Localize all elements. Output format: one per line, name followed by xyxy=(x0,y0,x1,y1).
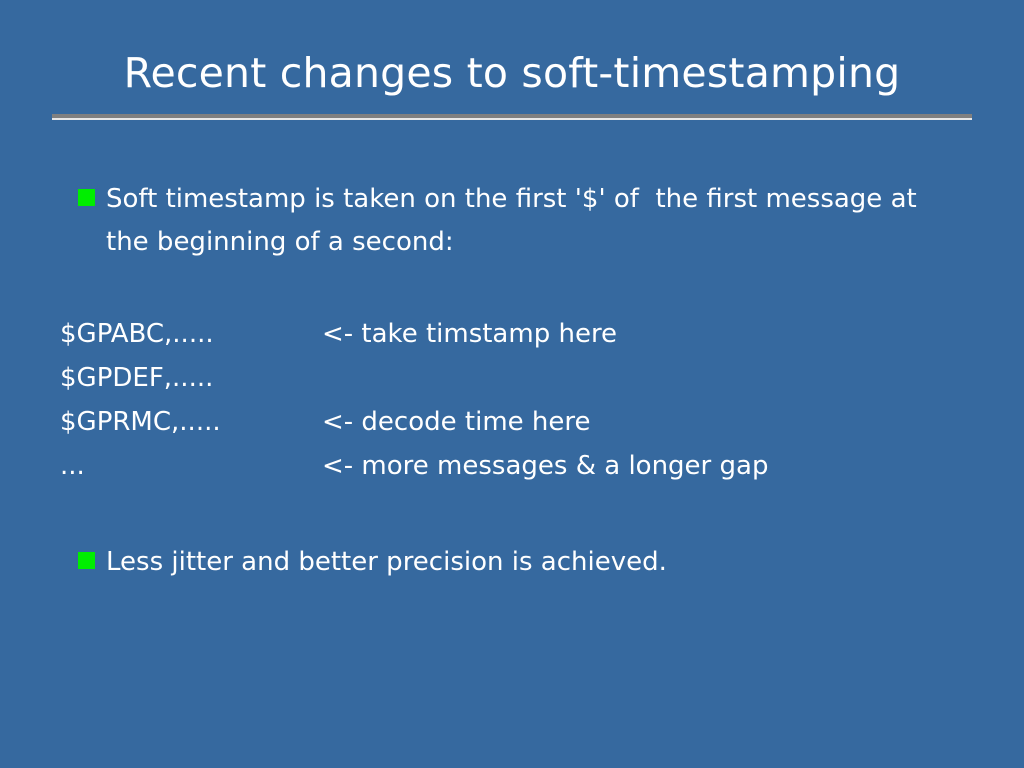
slide-body: Soft timestamp is taken on the first '$'… xyxy=(0,0,1024,768)
listing-message-2: $GPDEF,..... xyxy=(60,356,322,400)
listing-note-4: <- more messages & a longer gap xyxy=(322,444,960,488)
bullet-item-2-label: Less jitter and better precision is achi… xyxy=(106,541,667,584)
list-item: $GPABC,..... <- take timstamp here xyxy=(60,312,960,356)
listing-note-1: <- take timstamp here xyxy=(322,312,960,356)
list-item: ... <- more messages & a longer gap xyxy=(60,444,960,488)
bullet-item-2: Less jitter and better precision is achi… xyxy=(78,541,978,584)
presentation-slide: Recent changes to soft-timestamping Soft… xyxy=(0,0,1024,768)
list-item: $GPRMC,..... <- decode time here xyxy=(60,400,960,444)
message-listing: $GPABC,..... <- take timstamp here $GPDE… xyxy=(60,312,960,488)
listing-message-4: ... xyxy=(60,444,322,488)
listing-message-1: $GPABC,..... xyxy=(60,312,322,356)
bullet-item-1: Soft timestamp is taken on the first '$'… xyxy=(78,178,978,264)
listing-note-3: <- decode time here xyxy=(322,400,960,444)
listing-message-3: $GPRMC,..... xyxy=(60,400,322,444)
square-bullet-icon xyxy=(78,552,95,569)
list-item: $GPDEF,..... xyxy=(60,356,960,400)
square-bullet-icon xyxy=(78,189,95,206)
bullet-item-1-label: Soft timestamp is taken on the first '$'… xyxy=(106,178,946,264)
